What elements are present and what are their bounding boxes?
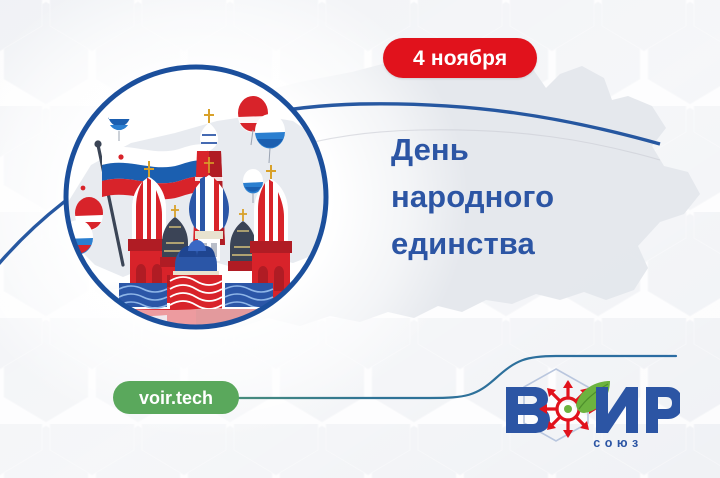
voir-tech-label: voir.tech	[139, 389, 213, 407]
date-badge: 4 ноября	[383, 38, 537, 78]
headline-line-3: единства	[391, 220, 691, 267]
page-title: День народного единства	[391, 126, 691, 267]
logo-letters-ir	[596, 387, 680, 433]
logo-subtitle: союз	[593, 436, 642, 450]
headline-line-2: народного	[391, 173, 691, 220]
poster-canvas: 4 ноября День народного единства	[0, 0, 720, 478]
voir-logo[interactable]: союз	[500, 363, 680, 451]
headline-line-1: День	[391, 126, 691, 173]
voir-tech-badge[interactable]: voir.tech	[113, 381, 239, 414]
cathedral-illustration	[57, 57, 335, 338]
date-badge-label: 4 ноября	[413, 48, 507, 69]
